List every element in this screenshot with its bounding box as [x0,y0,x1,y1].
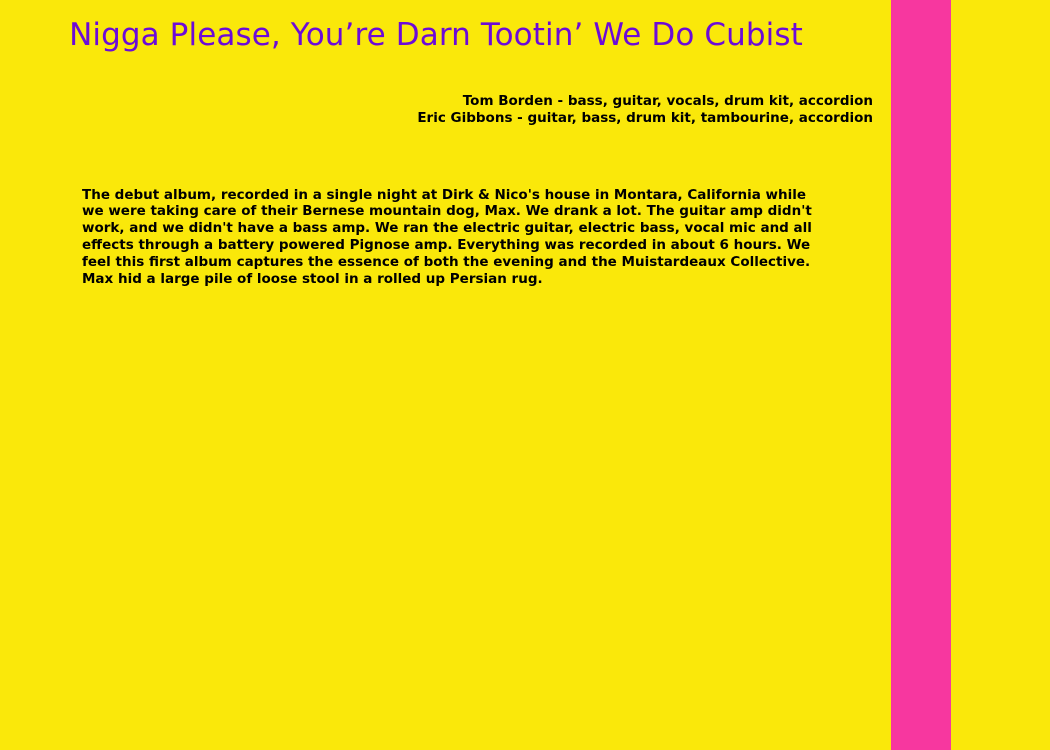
decorative-right-margin [951,0,1050,750]
decorative-pink-stripe [891,0,951,750]
content-column: Nigga Please, You’re Darn Tootin’ We Do … [0,0,891,750]
liner-notes-paragraph: The debut album, recorded in a single ni… [82,187,812,288]
credit-line-1: Tom Borden - bass, guitar, vocals, drum … [417,93,873,110]
credit-line-2: Eric Gibbons - guitar, bass, drum kit, t… [417,110,873,127]
album-liner-page: Nigga Please, You’re Darn Tootin’ We Do … [0,0,1050,750]
page-title: Nigga Please, You’re Darn Tootin’ We Do … [0,16,872,54]
performer-credits: Tom Borden - bass, guitar, vocals, drum … [417,93,873,127]
